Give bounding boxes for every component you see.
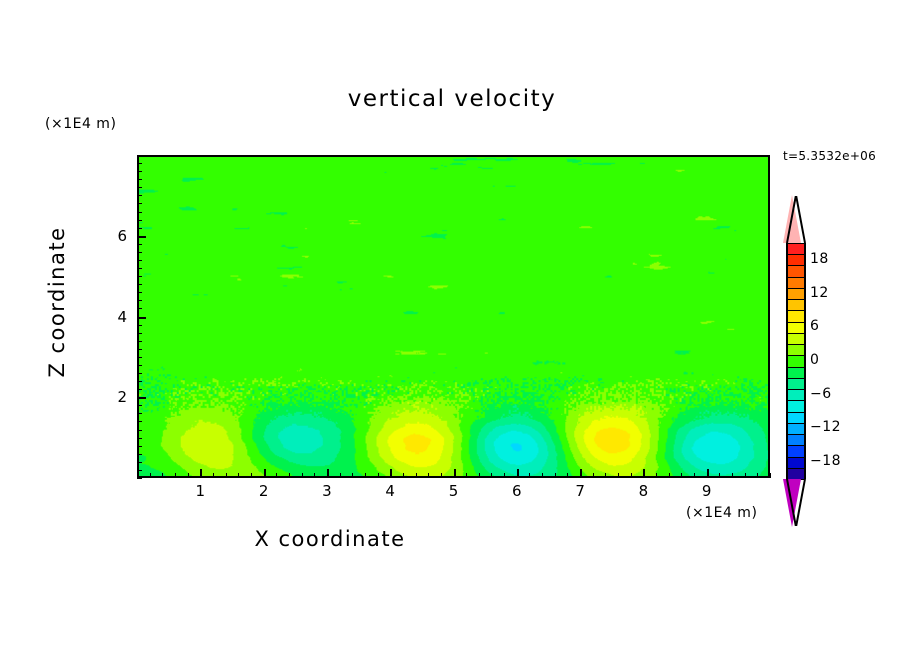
y-tick xyxy=(137,163,142,164)
x-tick xyxy=(757,473,758,478)
x-tick xyxy=(529,473,530,478)
x-tick xyxy=(276,473,277,478)
x-tick xyxy=(656,473,657,478)
chart-title: vertical velocity xyxy=(0,86,904,112)
x-tick xyxy=(428,473,429,478)
x-tick xyxy=(567,473,568,478)
x-tick xyxy=(365,473,366,478)
y-tick xyxy=(137,220,142,221)
colorbar-tick-label: 6 xyxy=(810,318,819,334)
colorbar-tick-label: −12 xyxy=(810,419,841,435)
colorbar xyxy=(783,196,809,526)
y-tick xyxy=(137,195,142,196)
y-tick xyxy=(137,155,142,156)
y-tick xyxy=(137,317,146,319)
x-tick xyxy=(200,469,202,478)
x-tick-label: 9 xyxy=(692,482,722,500)
x-axis-title: X coordinate xyxy=(0,527,660,551)
y-tick xyxy=(137,405,142,406)
x-tick xyxy=(378,473,379,478)
y-tick xyxy=(137,381,142,382)
x-tick xyxy=(314,473,315,478)
x-tick xyxy=(719,473,720,478)
time-annotation: t=5.3532e+06 xyxy=(783,149,876,163)
x-tick xyxy=(681,473,682,478)
x-tick-label: 3 xyxy=(312,482,342,500)
y-tick xyxy=(137,300,142,301)
x-tick xyxy=(593,473,594,478)
x-tick-label: 4 xyxy=(375,482,405,500)
x-tick xyxy=(555,473,556,478)
x-tick xyxy=(643,469,645,478)
x-tick xyxy=(618,473,619,478)
x-tick-label: 6 xyxy=(502,482,532,500)
y-tick xyxy=(137,389,142,390)
colorbar-bands xyxy=(787,243,805,479)
y-tick xyxy=(137,470,142,471)
x-axis-unit-label: (×1E4 m) xyxy=(686,505,757,521)
x-tick-label: 8 xyxy=(628,482,658,500)
x-tick xyxy=(454,469,456,478)
y-tick-label: 4 xyxy=(101,308,127,326)
y-tick xyxy=(137,421,142,422)
x-tick-label: 5 xyxy=(439,482,469,500)
x-tick xyxy=(491,473,492,478)
y-tick xyxy=(137,228,142,229)
x-tick xyxy=(605,473,606,478)
x-tick-label: 2 xyxy=(249,482,279,500)
x-tick xyxy=(264,469,266,478)
y-tick xyxy=(137,212,142,213)
x-tick xyxy=(226,473,227,478)
y-tick xyxy=(137,179,142,180)
y-tick xyxy=(137,244,142,245)
y-tick xyxy=(137,454,142,455)
y-tick xyxy=(137,308,142,309)
y-tick xyxy=(137,284,142,285)
y-tick xyxy=(137,478,142,479)
contour-plot-area xyxy=(137,155,770,478)
y-tick xyxy=(137,413,142,414)
vertical-velocity-field xyxy=(139,157,768,476)
x-tick xyxy=(150,473,151,478)
x-tick xyxy=(302,473,303,478)
x-tick-label: 7 xyxy=(565,482,595,500)
x-tick xyxy=(707,469,709,478)
colorbar-over-arrow xyxy=(783,195,801,243)
y-tick xyxy=(137,325,142,326)
x-tick xyxy=(340,473,341,478)
y-tick xyxy=(137,349,142,350)
y-tick xyxy=(137,260,142,261)
x-tick xyxy=(327,469,329,478)
x-tick xyxy=(162,473,163,478)
colorbar-under-arrow xyxy=(783,479,801,527)
x-tick xyxy=(188,473,189,478)
y-tick xyxy=(137,252,142,253)
x-tick-label: 1 xyxy=(185,482,215,500)
y-tick xyxy=(137,333,142,334)
colorbar-band xyxy=(787,468,805,480)
y-tick xyxy=(137,171,142,172)
x-tick xyxy=(745,473,746,478)
x-tick xyxy=(238,473,239,478)
y-tick xyxy=(137,446,142,447)
x-tick xyxy=(580,469,582,478)
x-tick xyxy=(390,469,392,478)
x-tick xyxy=(631,473,632,478)
y-tick xyxy=(137,187,142,188)
y-tick xyxy=(137,357,142,358)
y-tick xyxy=(137,462,142,463)
x-tick xyxy=(517,469,519,478)
y-tick xyxy=(137,373,142,374)
y-axis-title: Z coordinate xyxy=(45,212,69,392)
x-tick xyxy=(416,473,417,478)
y-tick xyxy=(137,341,142,342)
x-tick xyxy=(403,473,404,478)
x-tick xyxy=(542,473,543,478)
x-tick xyxy=(175,473,176,478)
x-tick xyxy=(466,473,467,478)
y-tick xyxy=(137,276,142,277)
colorbar-tick-label: 18 xyxy=(810,251,829,267)
x-tick xyxy=(289,473,290,478)
y-tick xyxy=(137,236,146,238)
x-tick xyxy=(251,473,252,478)
y-axis-unit-label: (×1E4 m) xyxy=(45,116,116,132)
x-tick xyxy=(732,473,733,478)
y-tick xyxy=(137,438,142,439)
y-tick xyxy=(137,430,142,431)
x-tick xyxy=(669,473,670,478)
colorbar-tick-label: −18 xyxy=(810,453,841,469)
x-tick xyxy=(770,473,771,478)
x-tick xyxy=(213,473,214,478)
y-tick-label: 2 xyxy=(101,388,127,406)
y-tick xyxy=(137,203,142,204)
y-tick-label: 6 xyxy=(101,227,127,245)
y-tick xyxy=(137,292,142,293)
x-tick xyxy=(479,473,480,478)
y-tick xyxy=(137,365,142,366)
y-tick xyxy=(137,268,142,269)
x-tick xyxy=(352,473,353,478)
y-tick xyxy=(137,397,146,399)
x-tick xyxy=(504,473,505,478)
x-tick xyxy=(694,473,695,478)
colorbar-tick-label: 0 xyxy=(810,352,819,368)
colorbar-tick-label: −6 xyxy=(810,386,832,402)
x-tick xyxy=(441,473,442,478)
colorbar-tick-label: 12 xyxy=(810,285,829,301)
